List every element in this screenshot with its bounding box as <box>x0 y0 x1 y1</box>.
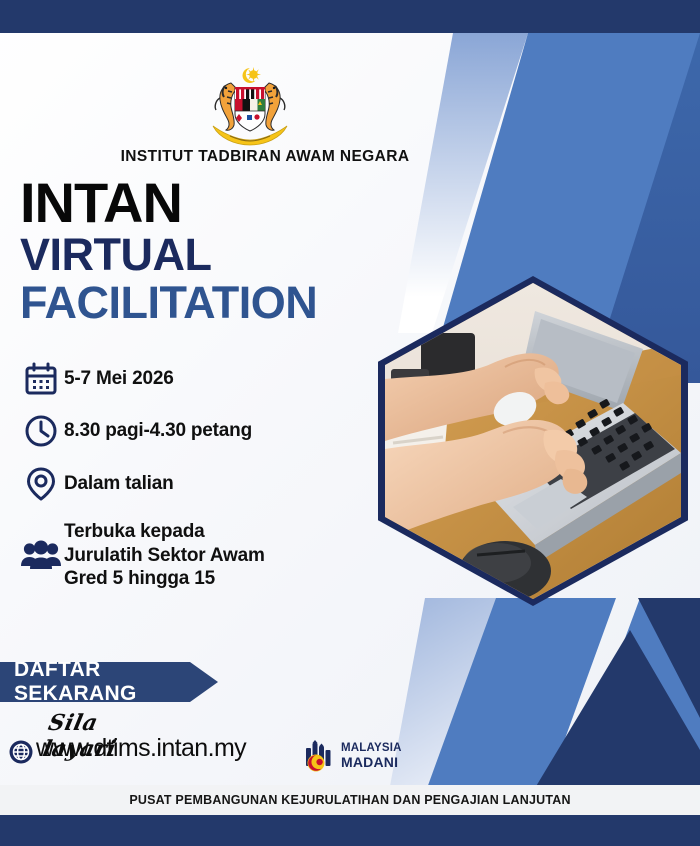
event-details-list: 5-7 Mei 2026 8.30 pagi-4.30 petang Dalam… <box>18 362 368 609</box>
location-pin-icon <box>18 466 64 502</box>
madani-line-1: MALAYSIA <box>341 743 402 755</box>
malaysia-coat-of-arms-icon <box>195 58 305 146</box>
audience-line-2: Jurulatih Sektor Awam <box>64 544 265 568</box>
detail-text-audience: Terbuka kepada Jurulatih Sektor Awam Gre… <box>64 520 265 591</box>
footer-strip: PUSAT PEMBANGUNAN KEJURULATIHAN DAN PENG… <box>0 785 700 815</box>
hands-typing-on-laptop-photo <box>385 283 681 599</box>
detail-row-location: Dalam talian <box>18 466 368 502</box>
register-now-label: DAFTAR SEKARANG <box>0 658 218 706</box>
bottom-navy-bar <box>0 815 700 846</box>
detail-text-time: 8.30 pagi-4.30 petang <box>64 419 252 442</box>
title-line-facilitation: FACILITATION <box>20 280 317 327</box>
detail-row-time: 8.30 pagi-4.30 petang <box>18 414 368 448</box>
top-navy-bar <box>0 0 700 33</box>
malaysia-madani-logo: MALAYSIA MADANI <box>303 740 402 772</box>
title-line-virtual: VIRTUAL <box>20 232 317 279</box>
detail-row-audience: Terbuka kepada Jurulatih Sektor Awam Gre… <box>18 520 368 591</box>
globe-icon <box>8 739 34 770</box>
footer-text: PUSAT PEMBANGUNAN KEJURULATIHAN DAN PENG… <box>129 793 570 807</box>
madani-mark-icon <box>303 740 337 772</box>
poster-title: INTAN VIRTUAL FACILITATION <box>20 176 317 326</box>
clock-icon <box>18 414 64 448</box>
madani-line-2: MADANI <box>341 755 402 769</box>
website-url[interactable]: www.dtims.intan.my <box>36 734 246 763</box>
poster-canvas: INSTITUT TADBIRAN AWAM NEGARA INTAN VIRT… <box>0 0 700 846</box>
detail-text-location: Dalam talian <box>64 472 174 495</box>
audience-line-3: Gred 5 hingga 15 <box>64 567 265 591</box>
detail-text-date: 5-7 Mei 2026 <box>64 367 174 390</box>
title-line-intan: INTAN <box>20 176 317 230</box>
people-group-icon <box>18 540 64 570</box>
audience-line-1: Terbuka kepada <box>64 520 265 544</box>
detail-row-date: 5-7 Mei 2026 <box>18 362 368 396</box>
calendar-icon <box>18 362 64 396</box>
organisation-name: INSTITUT TADBIRAN AWAM NEGARA <box>0 148 530 166</box>
hexagon-photo-frame <box>378 276 688 606</box>
register-now-banner[interactable]: DAFTAR SEKARANG <box>0 662 218 702</box>
